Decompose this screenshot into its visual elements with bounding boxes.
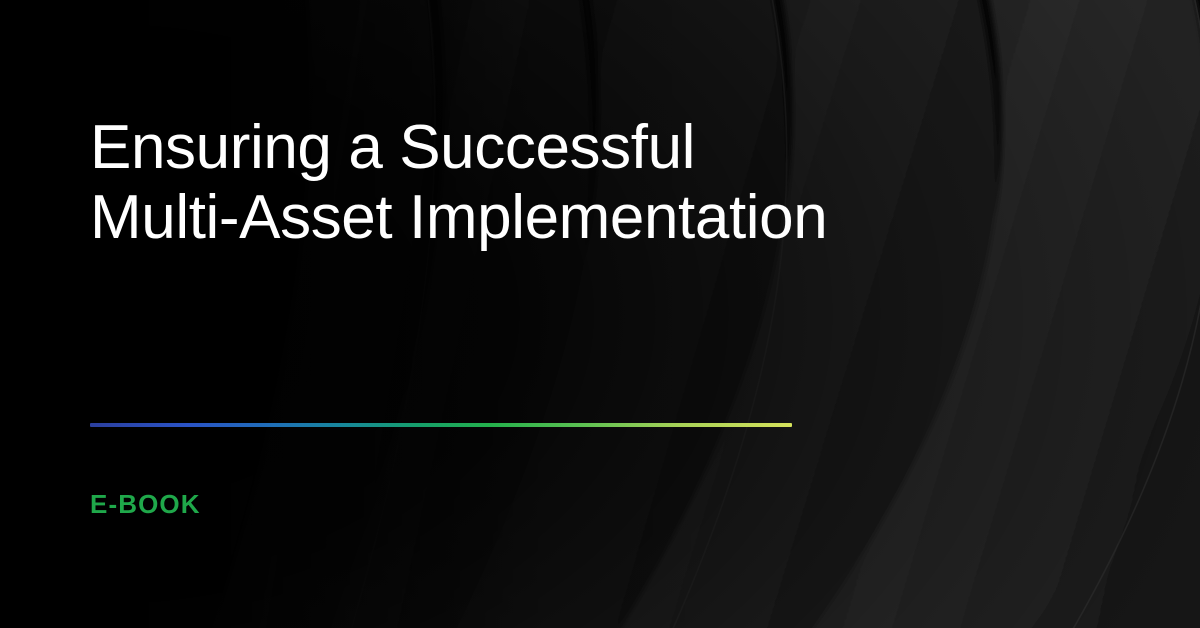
gradient-divider-rule (90, 423, 792, 427)
cover-content: Ensuring a Successful Multi-Asset Implem… (90, 0, 1110, 628)
content-type-kicker: E-BOOK (90, 489, 201, 520)
page-title: Ensuring a Successful Multi-Asset Implem… (90, 113, 1050, 253)
ebook-cover-canvas: Ensuring a Successful Multi-Asset Implem… (0, 0, 1200, 628)
